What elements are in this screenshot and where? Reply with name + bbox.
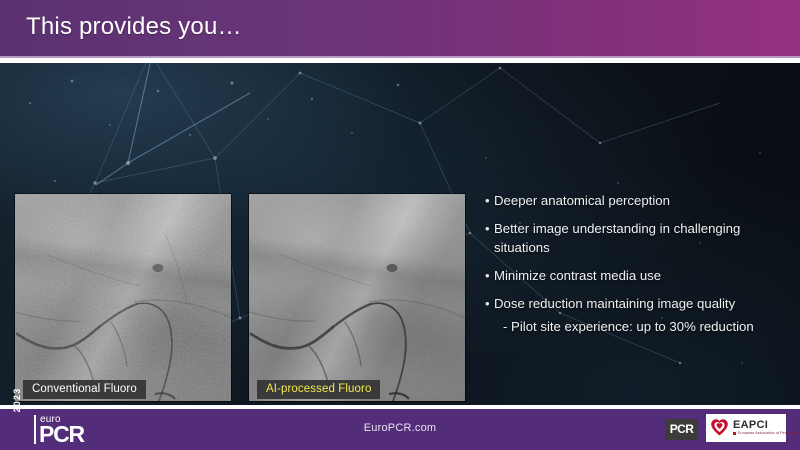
eapci-subtitle: European Association of Percutaneous Car… bbox=[738, 431, 800, 435]
fluoro-vignette bbox=[15, 194, 231, 401]
ai-processed-fluoro-image: AI-processed Fluoro bbox=[249, 194, 465, 401]
bullet-icon: • bbox=[485, 219, 494, 238]
eapci-name: EAPCI bbox=[733, 419, 768, 431]
slide-body: Conventional Fluoro bbox=[0, 63, 800, 405]
list-item-label: Dose reduction maintaining image quality bbox=[494, 294, 790, 313]
pcr-badge-logo: PCR bbox=[665, 419, 698, 440]
slide-header: This provides you… bbox=[0, 0, 800, 58]
heart-icon bbox=[710, 418, 729, 437]
eapci-subtitle-marker bbox=[733, 432, 736, 435]
list-item: • Better image understanding in challeng… bbox=[485, 219, 790, 238]
list-item: • Deeper anatomical perception bbox=[485, 191, 790, 210]
list-item-label: Deeper anatomical perception bbox=[494, 191, 790, 210]
logo-pcr-text: PCR bbox=[39, 423, 84, 446]
benefits-list: • Deeper anatomical perception • Better … bbox=[485, 191, 790, 336]
list-item-label: Better image understanding in challengin… bbox=[494, 219, 790, 238]
pcr-badge-label: PCR bbox=[665, 422, 698, 436]
list-item-continuation: situations bbox=[485, 238, 790, 257]
logo-divider bbox=[34, 415, 36, 444]
bullet-icon: • bbox=[485, 294, 494, 313]
list-item-label: situations bbox=[494, 238, 790, 257]
fluoro-vignette bbox=[249, 194, 465, 401]
europcr-logo: 2023 euro PCR bbox=[12, 414, 104, 446]
bullet-icon: • bbox=[485, 266, 494, 285]
page-title: This provides you… bbox=[26, 13, 242, 41]
ai-processed-fluoro-caption: AI-processed Fluoro bbox=[257, 380, 380, 399]
list-item: • Dose reduction maintaining image quali… bbox=[485, 294, 790, 313]
sub-list-item: - Pilot site experience: up to 30% reduc… bbox=[503, 317, 790, 336]
eapci-logo: EAPCI European Association of Percutaneo… bbox=[706, 414, 786, 442]
list-item: • Minimize contrast media use bbox=[485, 266, 790, 285]
conventional-fluoro-caption: Conventional Fluoro bbox=[23, 380, 146, 399]
bullet-icon: • bbox=[485, 191, 494, 210]
conventional-fluoro-image: Conventional Fluoro bbox=[15, 194, 231, 401]
logo-year: 2023 bbox=[12, 385, 22, 415]
slide: This provides you… bbox=[0, 0, 800, 450]
list-item-label: Minimize contrast media use bbox=[494, 266, 790, 285]
